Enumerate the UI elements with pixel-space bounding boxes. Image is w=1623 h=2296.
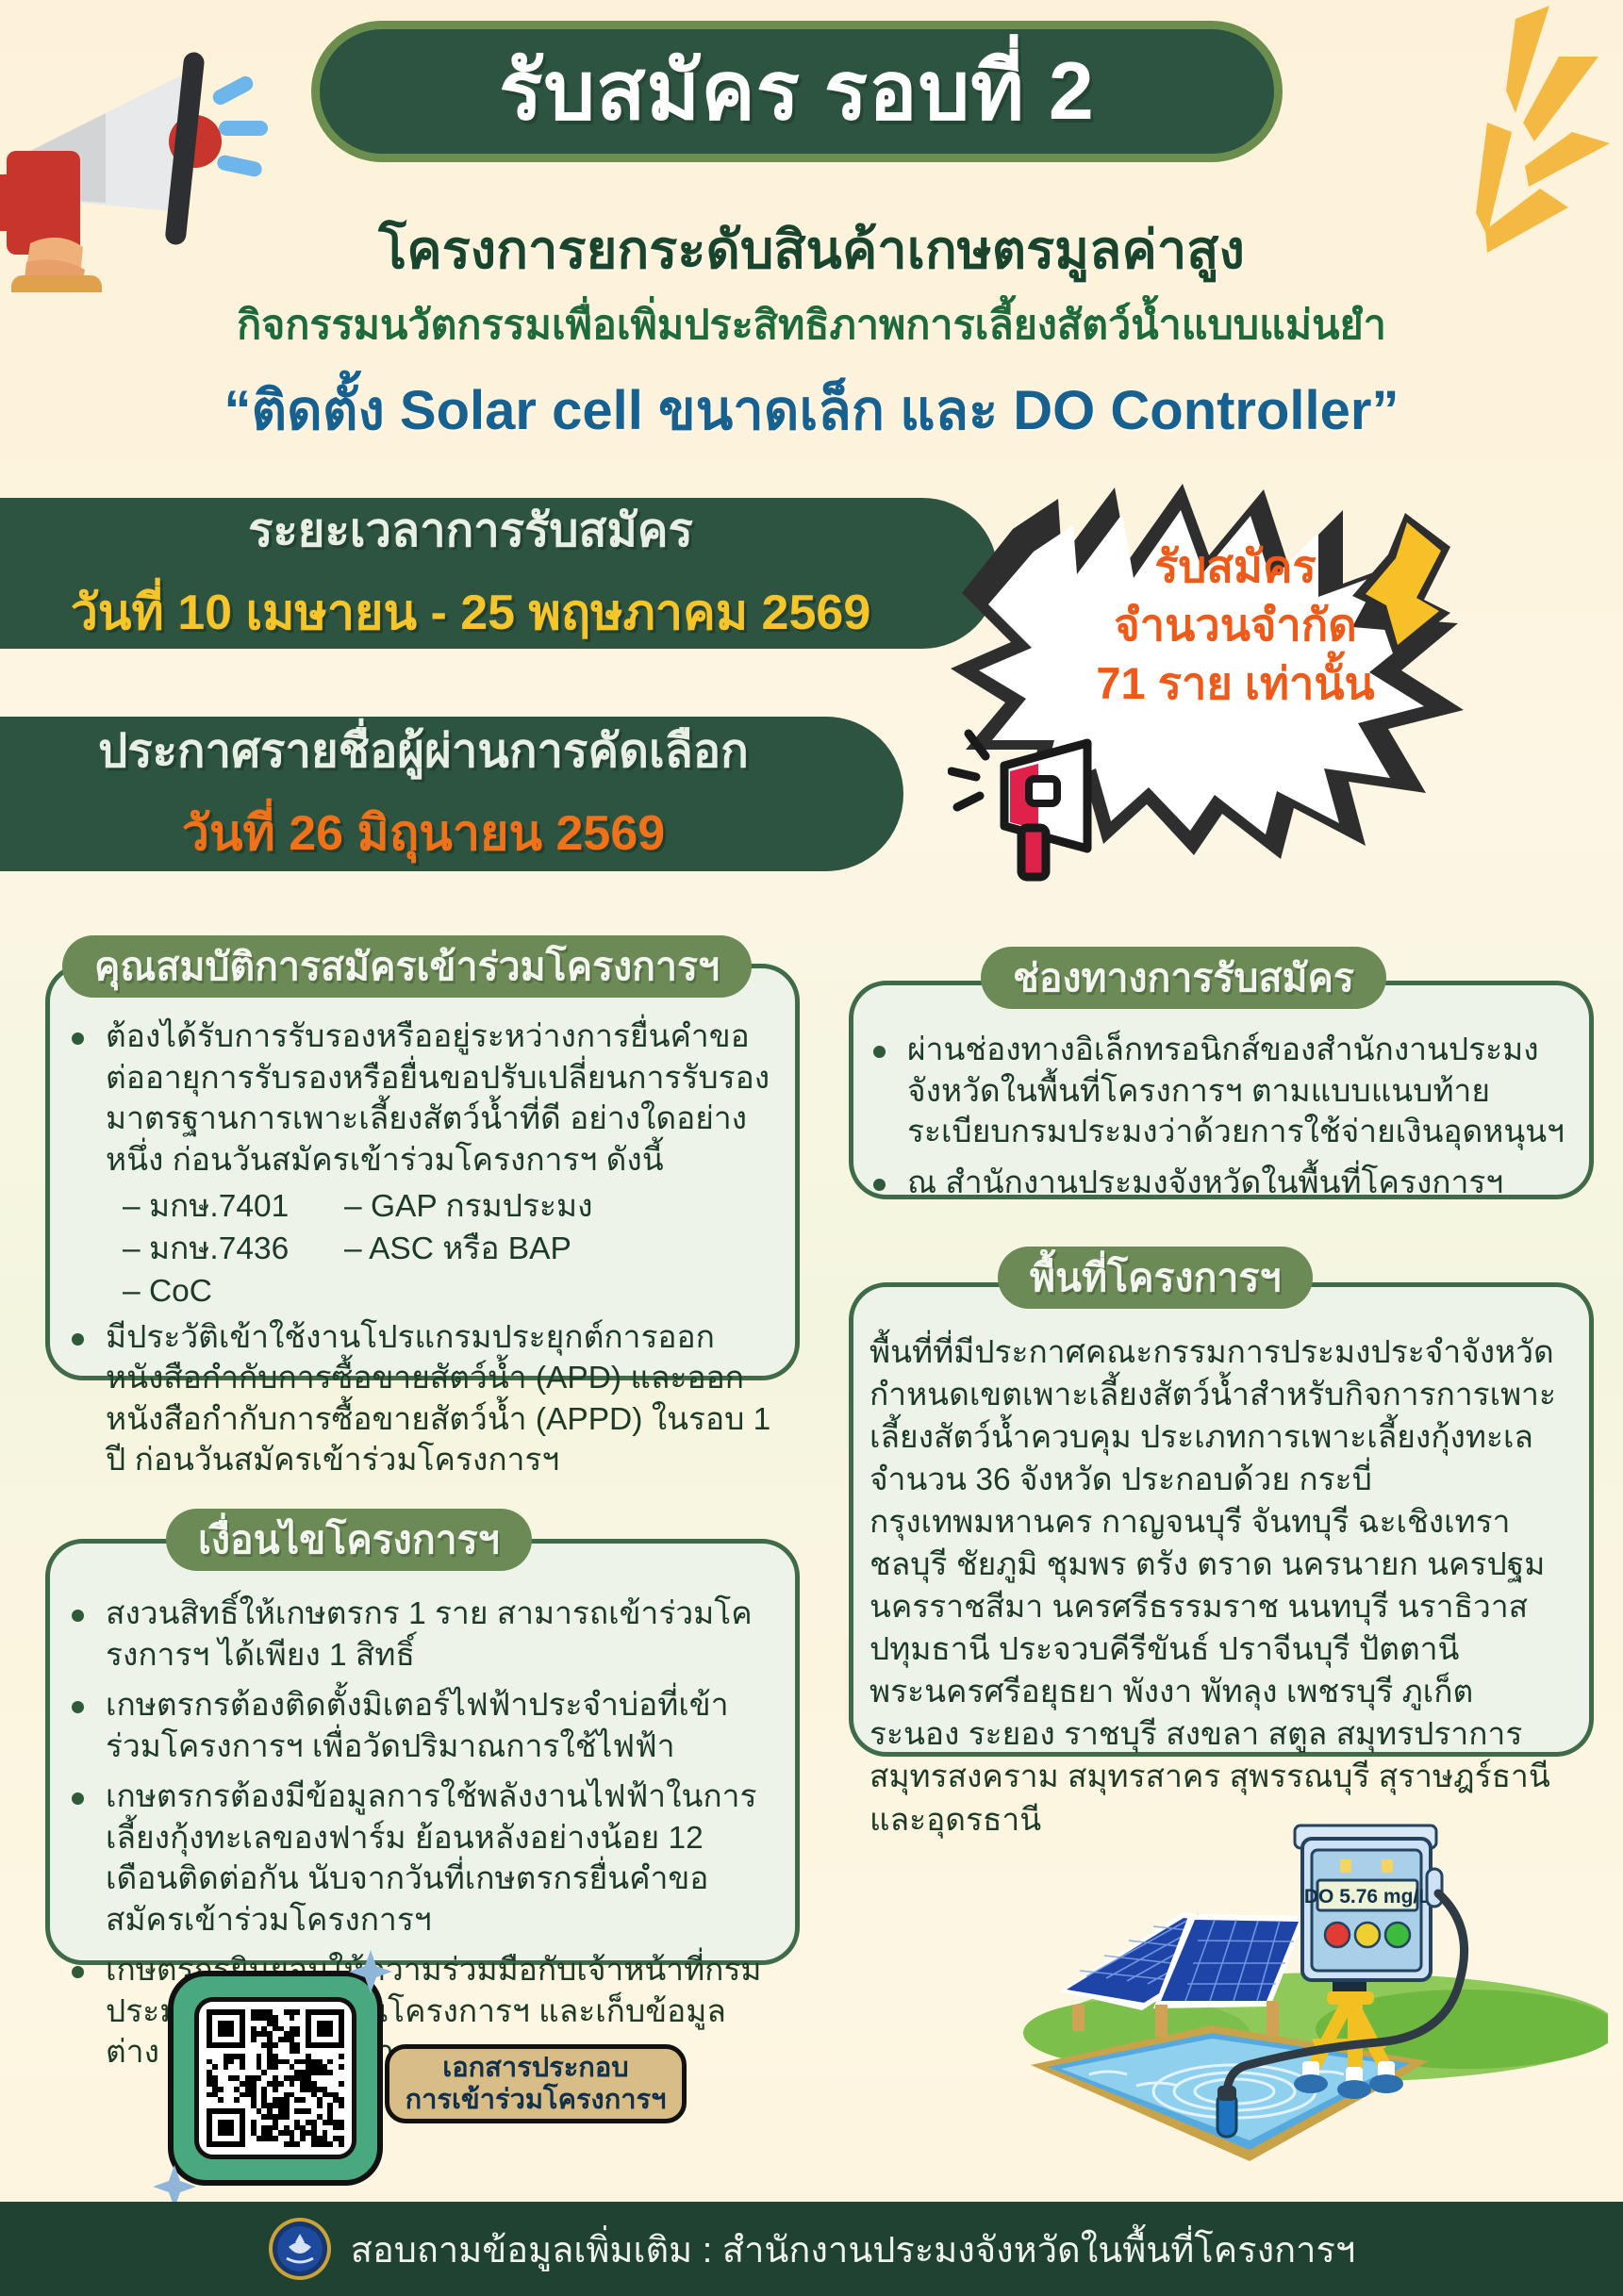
quota-callout: รับสมัคร จำนวนจำกัด 71 ราย เท่านั้น — [1056, 537, 1415, 713]
standard-left: – มกษ.7401 — [123, 1186, 344, 1229]
qr-code-label: เอกสารประกอบ การเข้าร่วมโครงการฯ — [385, 2044, 687, 2123]
list-item: ผ่านช่องทางอิเล็กทรอนิกส์ของสำนักงานประม… — [864, 1030, 1569, 1153]
qr-label-line-1: เอกสารประกอบ — [442, 2052, 628, 2084]
department-of-fisheries-seal-icon — [268, 2217, 332, 2281]
subtitle-topic: “ติดตั้ง Solar cell ขนาดเล็ก และ DO Cont… — [0, 366, 1623, 454]
list-item: – มกษ.7436 – ASC หรือ BAP — [123, 1229, 775, 1271]
list-item: มีประวัติเข้าใช้งานโปรแกรมประยุกต์การออก… — [62, 1317, 775, 1481]
channels-heading: ช่องทางการรับสมัคร — [981, 947, 1386, 1009]
do-reading-text: DO 5.76 mg/L — [1304, 1886, 1431, 1908]
conditions-body: สงวนสิทธิ์ให้เกษตรกร 1 ราย สามารถเข้าร่ว… — [45, 1577, 800, 2083]
standard-right: – ASC หรือ BAP — [344, 1229, 571, 1271]
solar-do-controller-illustration: DO 5.76 mg/L — [1023, 1792, 1608, 2178]
standard-left: – มกษ.7436 — [123, 1229, 344, 1271]
standard-right: – GAP กรมประมง — [344, 1186, 592, 1229]
list-item: – CoC — [123, 1271, 775, 1313]
announcement-date-box: ประกาศรายชื่อผู้ผ่านการคัดเลือก วันที่ 2… — [0, 717, 903, 871]
announcement-date-value: วันที่ 26 มิถุนายน 2569 — [182, 793, 665, 871]
channels-body: ผ่านช่องทางอิเล็กทรอนิกส์ของสำนักงานประม… — [849, 1016, 1594, 1213]
list-item: ต้องได้รับการรับรองหรืออยู่ระหว่างการยื่… — [62, 1016, 775, 1181]
megaphone-small-icon — [948, 717, 1136, 886]
project-area-intro: พื้นที่ที่มีประกาศคณะกรรมการประมงประจำจั… — [869, 1335, 1556, 1497]
announcement-date-label: ประกาศรายชื่อผู้ผ่านการคัดเลือก — [98, 714, 749, 787]
list-item: – มกษ.7401 – GAP กรมประมง — [123, 1186, 775, 1229]
qr-code-frame[interactable] — [168, 1971, 383, 2186]
list-item: เกษตรกรต้องติดตั้งมิเตอร์ไฟฟ้าประจำบ่อที… — [62, 1685, 775, 1767]
application-period-value: วันที่ 10 เมษายน - 25 พฤษภาคม 2569 — [71, 572, 871, 651]
application-period-label: ระยะเวลาการรับสมัคร — [248, 493, 693, 567]
footer-contact-text: สอบถามข้อมูลเพิ่มเติม : สำนักงานประมงจัง… — [351, 2221, 1355, 2278]
sparkle-icon — [349, 1950, 392, 1993]
quota-line-2: จำนวนจำกัด — [1056, 596, 1415, 654]
channels-heading-label: ช่องทางการรับสมัคร — [1013, 948, 1354, 1009]
project-area-heading: พื้นที่โครงการฯ — [998, 1247, 1313, 1309]
conditions-heading-label: เงื่อนไขโครงการฯ — [198, 1510, 500, 1571]
qr-label-line-2: การเข้าร่วมโครงการฯ — [406, 2084, 667, 2116]
footer-bar: สอบถามข้อมูลเพิ่มเติม : สำนักงานประมงจัง… — [0, 2202, 1623, 2296]
page-title: รับสมัคร รอบที่ 2 — [499, 51, 1094, 132]
subtitle-project-name: โครงการยกระดับสินค้าเกษตรมูลค่าสูง — [0, 207, 1623, 291]
project-area-body: พื้นที่ที่มีประกาศคณะกรรมการประมงประจำจั… — [849, 1318, 1594, 1842]
quota-line-3: 71 ราย เท่านั้น — [1056, 654, 1415, 713]
qr-code-modules — [207, 2009, 344, 2147]
standard-left: – CoC — [123, 1271, 344, 1313]
project-area-heading-label: พื้นที่โครงการฯ — [1030, 1247, 1281, 1309]
qr-code-image — [194, 1997, 356, 2159]
qualifications-heading: คุณสมบัติการสมัครเข้าร่วมโครงการฯ — [62, 935, 752, 998]
list-item: ณ สำนักงานประมงจังหวัดในพื้นที่โครงการฯ — [864, 1163, 1569, 1204]
qualifications-body: ต้องได้รับการรับรองหรืออยู่ระหว่างการยื่… — [45, 999, 800, 1491]
list-item: สงวนสิทธิ์ให้เกษตรกร 1 ราย สามารถเข้าร่ว… — [62, 1594, 775, 1676]
do-controller-box: DO 5.76 mg/L — [1295, 1825, 1442, 1980]
list-item: เกษตรกรต้องมีข้อมูลการใช้พลังงานไฟฟ้าในก… — [62, 1776, 775, 1941]
header-banner: รับสมัคร รอบที่ 2 — [311, 21, 1283, 162]
conditions-heading: เงื่อนไขโครงการฯ — [166, 1509, 532, 1571]
application-period-box: ระยะเวลาการรับสมัคร วันที่ 10 เมษายน - 2… — [0, 498, 998, 649]
project-area-provinces: กระบี่ กรุงเทพมหานคร กาญจนบุรี จันทบุรี … — [869, 1462, 1550, 1837]
quota-line-1: รับสมัคร — [1056, 537, 1415, 596]
subtitle-activity: กิจกรรมนวัตกรรมเพื่อเพิ่มประสิทธิภาพการเ… — [0, 292, 1623, 356]
project-area-text: พื้นที่ที่มีประกาศคณะกรรมการประมงประจำจั… — [869, 1331, 1571, 1842]
qualifications-heading-label: คุณสมบัติการสมัครเข้าร่วมโครงการฯ — [94, 936, 720, 998]
